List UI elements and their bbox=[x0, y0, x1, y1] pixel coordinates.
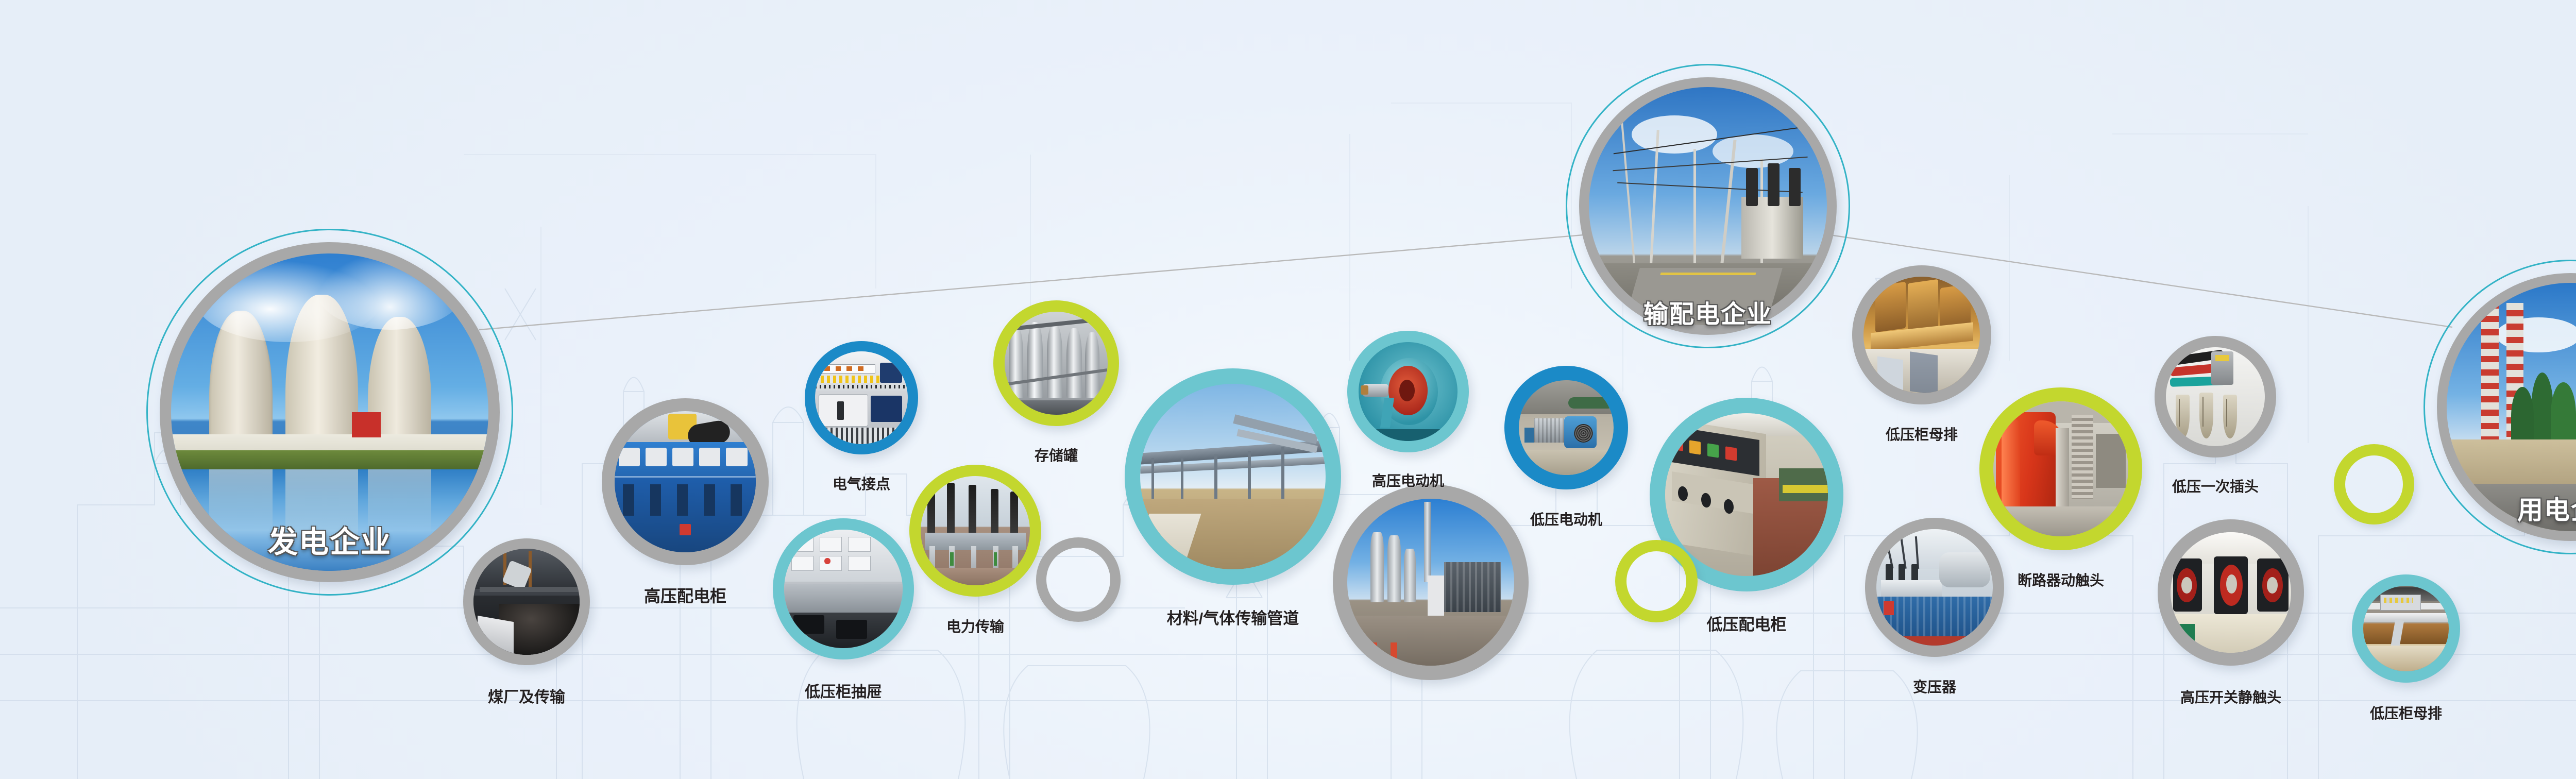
photo-electrical-contact bbox=[815, 351, 908, 444]
label-electrical-contact: 电气接点 bbox=[833, 473, 890, 494]
node-power-transmission[interactable] bbox=[909, 465, 1041, 597]
empty-ring-gray-left bbox=[1036, 537, 1121, 622]
label-hv-motor: 高压电动机 bbox=[1372, 470, 1444, 490]
ring-power-transmission bbox=[909, 465, 1041, 597]
ring-lv-busbar-right bbox=[2352, 574, 2460, 683]
label-hv-switch-static-contact: 高压开关静触头 bbox=[2180, 686, 2281, 707]
photo-power-transmission bbox=[921, 476, 1030, 585]
ring-lv-busbar-left bbox=[1852, 265, 1991, 404]
label-hv-switchgear: 高压配电柜 bbox=[644, 583, 726, 607]
photo-breaker-moving-contact bbox=[1993, 401, 2128, 536]
node-hv-switchgear[interactable] bbox=[602, 398, 769, 565]
ring-electrical-contact bbox=[805, 341, 918, 454]
photo-lv-busbar-right bbox=[2363, 586, 2449, 671]
ring-storage-tank bbox=[993, 300, 1119, 426]
node-lv-cabinet-drawer[interactable] bbox=[773, 518, 914, 659]
label-lv-switchgear: 低压配电柜 bbox=[1707, 612, 1787, 635]
photo-lv-switchgear bbox=[1665, 413, 1828, 576]
empty-ring-green-right bbox=[2334, 444, 2414, 524]
label-coal-plant-transport: 煤厂及传输 bbox=[488, 684, 565, 707]
node-storage-tank[interactable] bbox=[993, 300, 1119, 426]
photo-hv-switch-static-contact bbox=[2171, 532, 2291, 653]
hub-label-transmission: 输配电企业 bbox=[1643, 294, 1772, 330]
label-material-gas-pipeline: 材料/气体传输管道 bbox=[1167, 605, 1299, 629]
ring-breaker-moving-contact bbox=[1979, 387, 2142, 550]
node-lv-busbar-left[interactable] bbox=[1852, 265, 1991, 404]
photo-hv-motor bbox=[1359, 342, 1458, 441]
node-lv-motor[interactable] bbox=[1504, 366, 1628, 489]
node-breaker-moving-contact[interactable] bbox=[1979, 387, 2142, 550]
node-electrical-contact[interactable] bbox=[805, 341, 918, 454]
ring-hv-motor bbox=[1347, 331, 1469, 452]
hub-photo-transmission bbox=[1589, 87, 1827, 325]
node-hv-switch-static-contact[interactable] bbox=[2158, 519, 2304, 666]
node-hv-motor[interactable] bbox=[1347, 331, 1469, 452]
label-lv-cabinet-drawer: 低压柜抽屉 bbox=[805, 679, 882, 702]
ring-plant-stack bbox=[1333, 484, 1529, 680]
ring-lv-cabinet-drawer bbox=[773, 518, 914, 659]
node-plant-stack[interactable] bbox=[1333, 484, 1529, 680]
label-lv-motor: 低压电动机 bbox=[1530, 509, 1602, 529]
photo-plant-stack bbox=[1347, 499, 1514, 666]
photo-transformer bbox=[1876, 529, 1993, 646]
ring-lv-primary-plug bbox=[2155, 336, 2276, 458]
ring-material-gas-pipeline bbox=[1125, 368, 1341, 585]
label-storage-tank: 存储罐 bbox=[1035, 445, 1078, 465]
photo-storage-tank bbox=[1005, 312, 1108, 415]
hub-label-consumption: 用电企业 bbox=[2517, 489, 2576, 527]
ring-hv-switch-static-contact bbox=[2158, 519, 2304, 666]
ring-lv-motor bbox=[1504, 366, 1628, 489]
label-lv-primary-plug: 低压一次插头 bbox=[2172, 476, 2259, 496]
photo-hv-switchgear bbox=[615, 411, 756, 552]
photo-lv-cabinet-drawer bbox=[784, 530, 903, 648]
node-lv-primary-plug[interactable] bbox=[2155, 336, 2276, 458]
photo-lv-busbar-left bbox=[1863, 277, 1980, 393]
infographic-canvas: 煤厂及传输 高压配电柜 低压柜抽屉 bbox=[0, 0, 2576, 779]
hub-label-generation: 发电企业 bbox=[268, 518, 392, 561]
empty-ring-green-mid bbox=[1615, 540, 1698, 622]
node-material-gas-pipeline[interactable] bbox=[1125, 368, 1341, 585]
label-transformer: 变压器 bbox=[1913, 676, 1956, 697]
photo-lv-primary-plug bbox=[2166, 347, 2265, 446]
label-power-transmission: 电力传输 bbox=[946, 616, 1004, 636]
label-lv-busbar-left: 低压柜母排 bbox=[1886, 424, 1958, 444]
ring-hv-switchgear bbox=[602, 398, 769, 565]
label-lv-busbar-right: 低压柜母排 bbox=[2370, 702, 2442, 723]
label-breaker-moving-contact: 断路器动触头 bbox=[2018, 569, 2104, 590]
node-lv-busbar-right[interactable] bbox=[2352, 574, 2460, 683]
photo-lv-motor bbox=[1519, 380, 1614, 475]
photo-material-gas-pipeline bbox=[1140, 384, 1326, 569]
